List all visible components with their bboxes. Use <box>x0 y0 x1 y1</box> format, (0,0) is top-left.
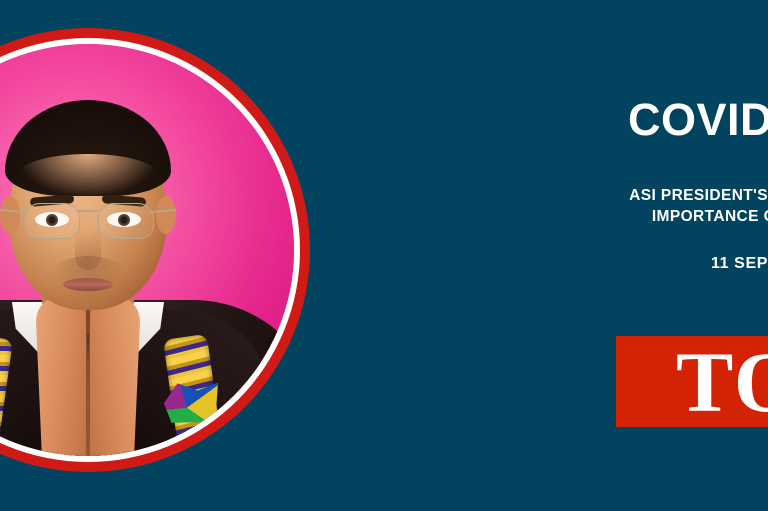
mouth <box>63 278 113 291</box>
portrait-image <box>0 44 294 456</box>
eyeglass-lens-left <box>24 203 80 239</box>
eyeglasses-icon <box>0 44 294 456</box>
subtitle-line-1: ASI PRESIDENT'S <box>400 186 768 207</box>
eyeglass-lens-right <box>98 203 154 239</box>
eyeglass-temple-left <box>0 209 26 214</box>
toi-logo: TOI <box>616 336 768 427</box>
subtitle-line-2: IMPORTANCE OF WEA <box>400 207 768 228</box>
eyeglass-temple-right <box>150 209 176 214</box>
video-thumbnail-canvas: COVID ASI PRESIDENT'S IMPORTANCE OF WEA … <box>0 0 768 511</box>
portrait-white-ring <box>0 38 300 462</box>
eyeglass-bridge <box>78 210 98 212</box>
portrait-circle-frame <box>0 28 310 472</box>
page-title: COVID <box>628 97 768 142</box>
nose <box>75 228 101 270</box>
date-label: 11 SEP <box>400 255 768 273</box>
subtitle: ASI PRESIDENT'S IMPORTANCE OF WEA <box>400 186 768 227</box>
portrait-subject <box>0 44 294 456</box>
toi-wordmark: TOI <box>676 339 768 425</box>
